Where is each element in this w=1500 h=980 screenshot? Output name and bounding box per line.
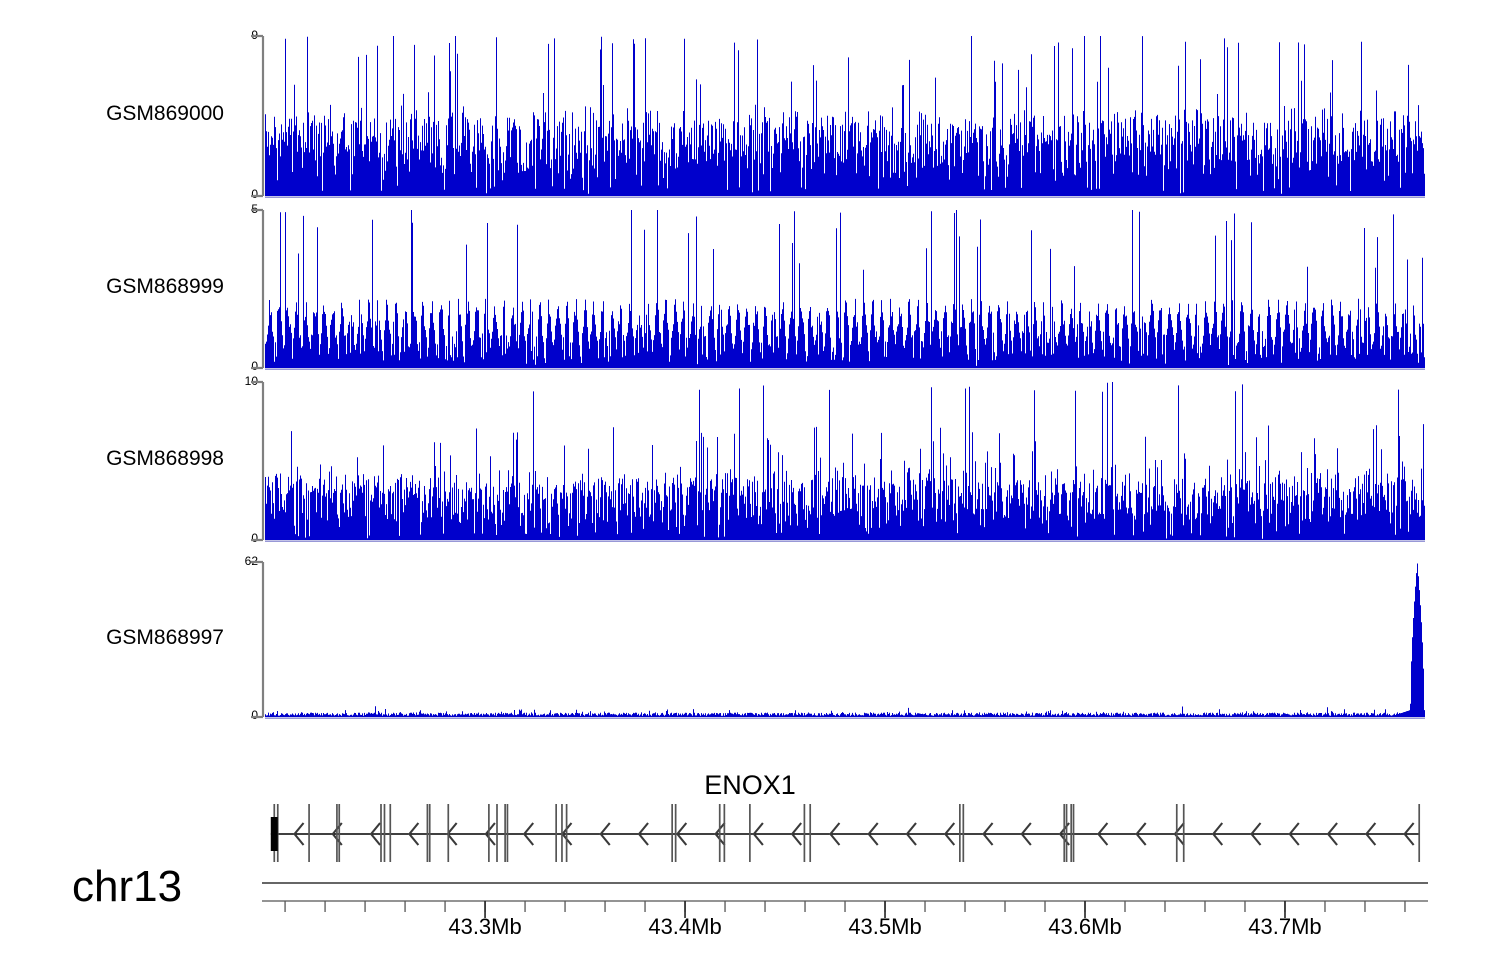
ruler-tick-label-4: 43.7Mb: [1248, 914, 1321, 940]
coverage-bars: [265, 210, 1425, 368]
track-label-GSM868999: GSM868999: [0, 275, 224, 299]
coverage-plot-GSM868999: [205, 204, 1435, 380]
coverage-bars: [265, 564, 1425, 718]
track-label-GSM868997: GSM868997: [0, 626, 224, 650]
chromosome-label: chr13: [72, 862, 182, 912]
coverage-plot-GSM869000: [205, 30, 1435, 208]
gene-model-track[interactable]: [260, 800, 1440, 862]
ruler-tick-label-2: 43.5Mb: [848, 914, 921, 940]
exon-group: [271, 804, 1419, 862]
coverage-bars: [265, 382, 1425, 540]
genome-browser-figure: GSM86900090GSM86899950GSM868998100GSM868…: [0, 0, 1500, 980]
coverage-plot-GSM868997: [205, 556, 1435, 729]
coverage-plot-GSM868998: [205, 376, 1435, 552]
ruler-tick-label-3: 43.6Mb: [1048, 914, 1121, 940]
genomic-coordinate-ruler[interactable]: [260, 878, 1440, 918]
ruler-tick-label-0: 43.3Mb: [448, 914, 521, 940]
ruler-tick-label-1: 43.4Mb: [648, 914, 721, 940]
coverage-bars: [265, 36, 1425, 196]
track-label-GSM868998: GSM868998: [0, 447, 224, 471]
track-label-GSM869000: GSM869000: [0, 102, 224, 126]
gene-name-label: ENOX1: [0, 770, 1500, 801]
